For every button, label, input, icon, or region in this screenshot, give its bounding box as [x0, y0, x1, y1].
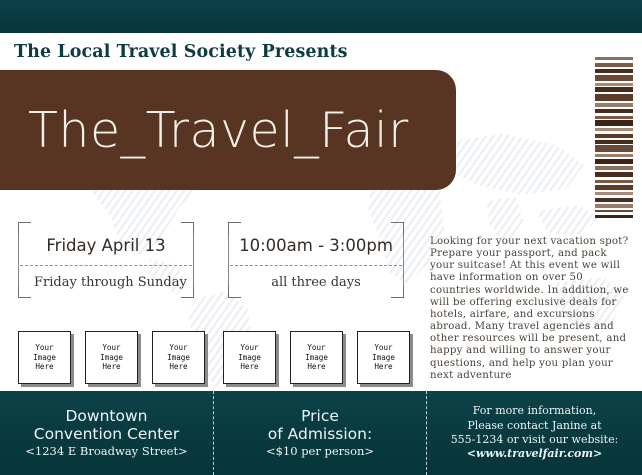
image-placeholder-text: Your: [35, 343, 53, 353]
image-placeholder-text: Image: [100, 353, 123, 363]
price-value: <$10 per person>: [266, 444, 374, 459]
barcode-bar: [595, 94, 633, 101]
image-placeholder[interactable]: YourImageHere: [290, 331, 343, 384]
image-placeholder-row: YourImageHereYourImageHereYourImageHereY…: [18, 331, 418, 387]
venue-name-line2: Convention Center: [34, 425, 179, 443]
image-placeholder-text: Image: [33, 353, 56, 363]
image-placeholder-text: Your: [374, 343, 392, 353]
event-date-primary: Friday April 13: [24, 226, 188, 264]
event-time-secondary: all three days: [234, 269, 398, 295]
barcode-icon: [595, 57, 633, 218]
contact-line-2: Please contact Janine at: [467, 419, 601, 433]
footer-venue-column: Downtown Convention Center <1234 E Broad…: [0, 391, 213, 475]
travel-fair-ticket: The Local Travel Society Presents: [0, 0, 642, 475]
event-time-divider: [230, 265, 402, 266]
venue-name-line1: Downtown: [66, 407, 148, 425]
image-placeholder[interactable]: YourImageHere: [357, 331, 410, 384]
image-placeholder-text: Here: [307, 362, 325, 372]
event-title: The_Travel_Fair: [28, 69, 448, 191]
image-placeholder[interactable]: YourImageHere: [18, 331, 71, 384]
contact-line-1: For more information,: [473, 404, 596, 418]
venue-address: <1234 E Broadway Street>: [25, 444, 187, 459]
image-placeholder-text: Your: [169, 343, 187, 353]
image-placeholder-text: Your: [240, 343, 258, 353]
event-time-primary: 10:00am - 3:00pm: [234, 226, 398, 264]
event-date-box: Friday April 13 Friday through Sunday: [18, 222, 194, 298]
image-placeholder-text: Image: [167, 353, 190, 363]
price-label-line2: of Admission:: [268, 425, 372, 443]
image-placeholder-text: Here: [35, 362, 53, 372]
top-accent-band: [0, 0, 642, 33]
event-date-divider: [20, 265, 192, 266]
image-placeholder[interactable]: YourImageHere: [85, 331, 138, 384]
image-placeholder-text: Here: [102, 362, 120, 372]
price-label-line1: Price: [301, 407, 339, 425]
image-placeholder-text: Image: [372, 353, 395, 363]
top-accent-band-gradient: [0, 0, 642, 33]
footer-contact-column: For more information, Please contact Jan…: [427, 391, 642, 475]
image-placeholder[interactable]: YourImageHere: [152, 331, 205, 384]
event-description: Looking for your next vacation spot? Pre…: [430, 236, 630, 382]
barcode-bar: [595, 145, 633, 152]
image-placeholder-text: Image: [305, 353, 328, 363]
image-placeholder-text: Here: [374, 362, 392, 372]
contact-website-link[interactable]: <www.travelfair.com>: [467, 447, 602, 462]
image-placeholder-text: Image: [238, 353, 261, 363]
event-date-secondary: Friday through Sunday: [24, 269, 188, 295]
event-time-box: 10:00am - 3:00pm all three days: [228, 222, 404, 298]
contact-phone: 555-1234 or visit our website:: [451, 433, 619, 447]
image-placeholder-text: Here: [240, 362, 258, 372]
image-placeholder-text: Here: [169, 362, 187, 372]
image-placeholder-text: Your: [307, 343, 325, 353]
image-placeholder[interactable]: YourImageHere: [223, 331, 276, 384]
barcode-bar: [595, 215, 633, 218]
footer-price-column: Price of Admission: <$10 per person>: [214, 391, 426, 475]
image-placeholder-text: Your: [102, 343, 120, 353]
